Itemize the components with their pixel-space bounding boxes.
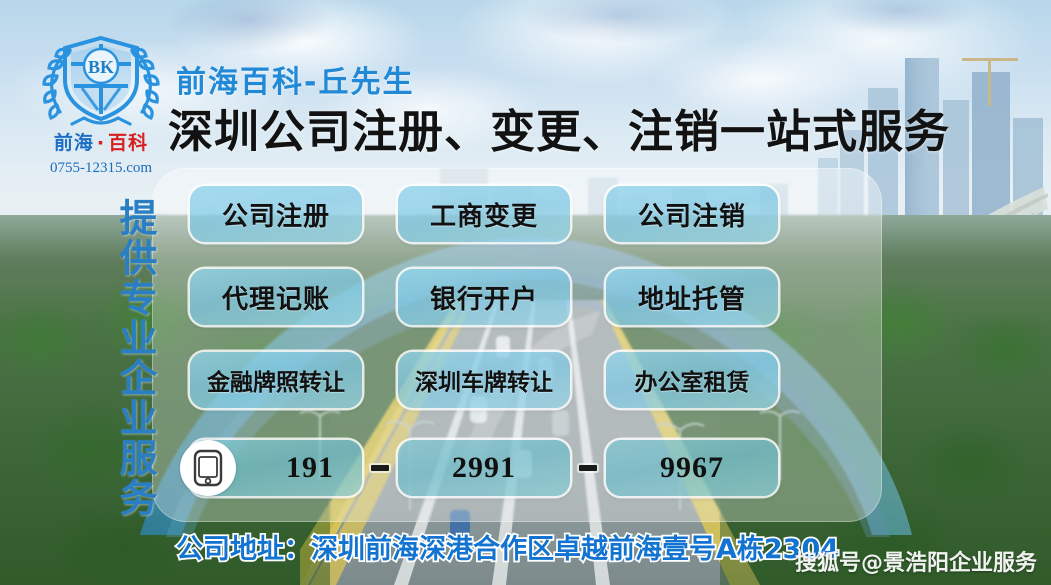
service-pill-business-change[interactable]: 工商变更 [398,186,570,242]
logo-website: 0755-12315.com [26,160,176,177]
phone-part-2: 2991 [452,451,516,485]
mobile-phone-icon [180,440,236,496]
service-pill-financial-license-transfer[interactable]: 金融牌照转让 [190,352,362,408]
phone-number-row[interactable]: 191 2991 9967 [190,440,778,496]
logo-monogram-text: BK [88,57,114,77]
logo-wordmark: 前海·百科 [26,134,176,153]
header-subtitle: 前海百科-丘先生 [176,68,414,98]
vertical-side-banner: 提供专业企业服务 [98,198,154,518]
mobile-phone-glyph [193,449,223,487]
service-pill-company-registration[interactable]: 公司注册 [190,186,362,242]
service-pill-company-deregistration[interactable]: 公司注销 [606,186,778,242]
service-pill-address-hosting[interactable]: 地址托管 [606,269,778,325]
company-address: 公司地址：深圳前海深港合作区卓越前海壹号A栋2304 [176,527,839,566]
service-pill-office-rental[interactable]: 办公室租赁 [606,352,778,408]
phone-separator-1 [362,465,398,471]
service-row-1: 公司注册 工商变更 公司注销 [190,186,850,242]
phone-segment-2[interactable]: 2991 [398,440,570,496]
service-row-3: 金融牌照转让 深圳车牌转让 办公室租赁 [190,352,850,408]
promotional-banner: BK 前海·百科 0755-12315.com 前海百科-丘先生 深圳公司注册、… [0,0,1051,585]
phone-segment-3[interactable]: 9967 [606,440,778,496]
logo-word-red: 百科 [108,132,148,154]
phone-part-1: 191 [286,451,334,485]
service-pill-bank-account[interactable]: 银行开户 [398,269,570,325]
service-pill-bookkeeping[interactable]: 代理记账 [190,269,362,325]
service-pill-vehicle-plate-transfer[interactable]: 深圳车牌转让 [398,352,570,408]
page-title: 深圳公司注册、变更、注销一站式服务 [168,108,950,155]
logo-word-blue: 前海 [54,132,94,154]
phone-segment-1[interactable]: 191 [190,440,362,496]
service-grid: 公司注册 工商变更 公司注销 代理记账 银行开户 地址托管 金融牌照转让 深圳车… [190,186,850,435]
phone-part-3: 9967 [660,451,724,485]
phone-separator-2 [570,465,606,471]
logo-word-dot: · [94,132,108,154]
company-logo: BK 前海·百科 0755-12315.com [26,24,176,184]
watermark-label: 搜狐号@景浩阳企业服务 [795,545,1037,577]
shield-laurel-bk-emblem-icon: BK [26,24,176,132]
service-row-2: 代理记账 银行开户 地址托管 [190,269,850,325]
